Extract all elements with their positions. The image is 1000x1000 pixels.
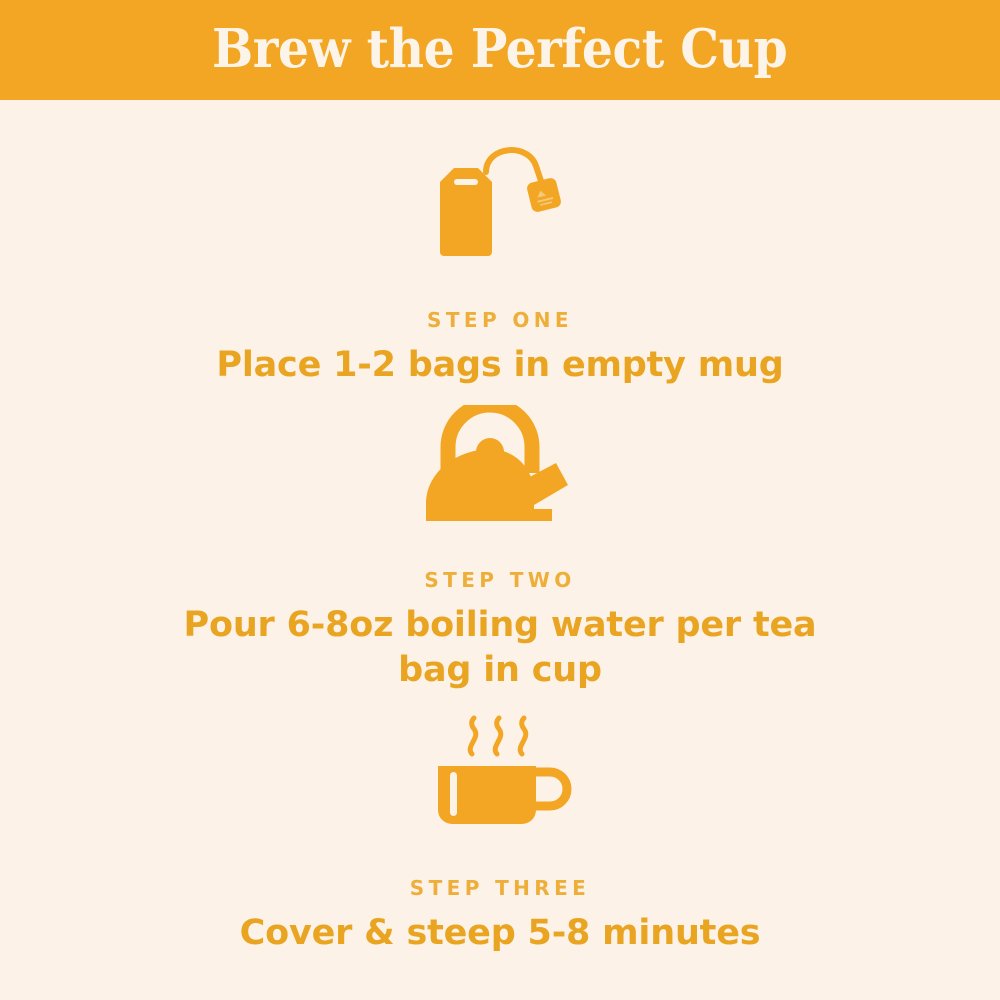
page-title: Brew the Perfect Cup	[212, 23, 787, 76]
step-one-label: STEP ONE	[427, 308, 573, 332]
step-one: STEP ONE Place 1-2 bags in empty mug	[0, 140, 1000, 388]
steps-container: STEP ONE Place 1-2 bags in empty mug	[0, 100, 1000, 1000]
step-three-description: Cover & steep 5-8 minutes	[240, 911, 761, 956]
step-two-label: STEP TWO	[424, 568, 575, 592]
step-two: STEP TWO Pour 6-8oz boiling water per te…	[0, 405, 1000, 693]
steaming-mug-icon	[410, 710, 590, 843]
brew-guide-infographic: Brew the Perfect Cup	[0, 0, 1000, 1000]
step-two-description: Pour 6-8oz boiling water per tea bag in …	[180, 603, 820, 693]
kettle-icon	[410, 405, 590, 535]
step-one-description: Place 1-2 bags in empty mug	[216, 343, 783, 388]
header-banner: Brew the Perfect Cup	[0, 0, 1000, 100]
step-three: STEP THREE Cover & steep 5-8 minutes	[0, 710, 1000, 956]
step-three-label: STEP THREE	[410, 876, 590, 900]
tea-bag-icon	[410, 140, 590, 275]
